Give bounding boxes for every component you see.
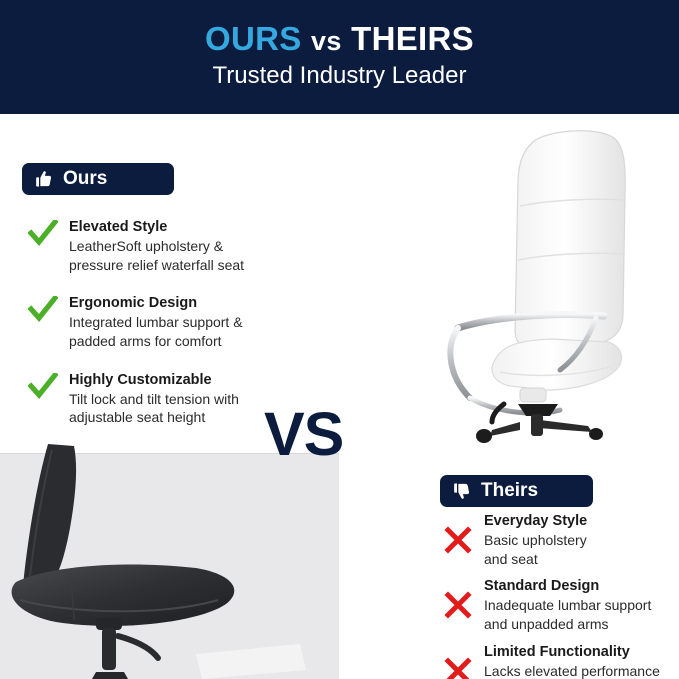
page-title-theirs: THEIRS bbox=[351, 20, 474, 57]
feature-desc: Basic upholstery and seat bbox=[484, 531, 678, 568]
feature-title: Ergonomic Design bbox=[69, 294, 292, 312]
feature-title: Highly Customizable bbox=[69, 371, 292, 389]
list-item: Highly Customizable Tilt lock and tilt t… bbox=[22, 371, 292, 427]
page-subtitle: Trusted Industry Leader bbox=[0, 62, 679, 90]
list-item: Elevated Style LeatherSoft upholstery & … bbox=[22, 218, 292, 274]
white-leather-office-chair-image bbox=[400, 120, 679, 456]
ours-badge-label: Ours bbox=[63, 168, 107, 190]
ours-badge: Ours bbox=[22, 163, 174, 195]
page-title: OURS vs THEIRS bbox=[0, 20, 679, 58]
red-x-icon bbox=[444, 657, 472, 679]
feature-title: Elevated Style bbox=[69, 218, 292, 236]
list-item: Standard Design Inadequate lumbar suppor… bbox=[438, 577, 678, 633]
red-x-icon bbox=[444, 526, 472, 554]
feature-title: Everyday Style bbox=[484, 512, 678, 530]
theirs-feature-list: Everyday Style Basic upholstery and seat… bbox=[438, 512, 678, 679]
list-item: Limited Functionality Lacks elevated per… bbox=[438, 643, 678, 679]
feature-title: Standard Design bbox=[484, 577, 678, 595]
comparison-infographic: OURS vs THEIRS Trusted Industry Leader bbox=[0, 0, 679, 679]
page-title-ours: OURS bbox=[205, 20, 302, 57]
black-office-chair-image bbox=[0, 440, 310, 679]
feature-desc: Inadequate lumbar support and unpadded a… bbox=[484, 596, 678, 633]
thumbs-down-icon bbox=[452, 481, 472, 501]
header-banner: OURS vs THEIRS Trusted Industry Leader bbox=[0, 0, 679, 114]
feature-desc: LeatherSoft upholstery & pressure relief… bbox=[69, 237, 292, 274]
feature-title: Limited Functionality bbox=[484, 643, 678, 661]
page-title-vs: vs bbox=[311, 26, 342, 56]
ours-feature-list: Elevated Style LeatherSoft upholstery & … bbox=[22, 218, 292, 447]
theirs-badge-label: Theirs bbox=[481, 480, 538, 502]
thumbs-up-icon bbox=[34, 169, 54, 189]
theirs-badge: Theirs bbox=[440, 475, 593, 507]
list-item: Ergonomic Design Integrated lumbar suppo… bbox=[22, 294, 292, 350]
feature-desc: Lacks elevated performance needed for al… bbox=[484, 662, 678, 679]
list-item: Everyday Style Basic upholstery and seat bbox=[438, 512, 678, 568]
red-x-icon bbox=[444, 591, 472, 619]
vs-divider-label: VS bbox=[264, 404, 343, 465]
green-check-icon bbox=[28, 296, 58, 324]
green-check-icon bbox=[28, 373, 58, 401]
green-check-icon bbox=[28, 220, 58, 248]
feature-desc: Tilt lock and tilt tension with adjustab… bbox=[69, 390, 292, 427]
feature-desc: Integrated lumbar support & padded arms … bbox=[69, 313, 292, 350]
